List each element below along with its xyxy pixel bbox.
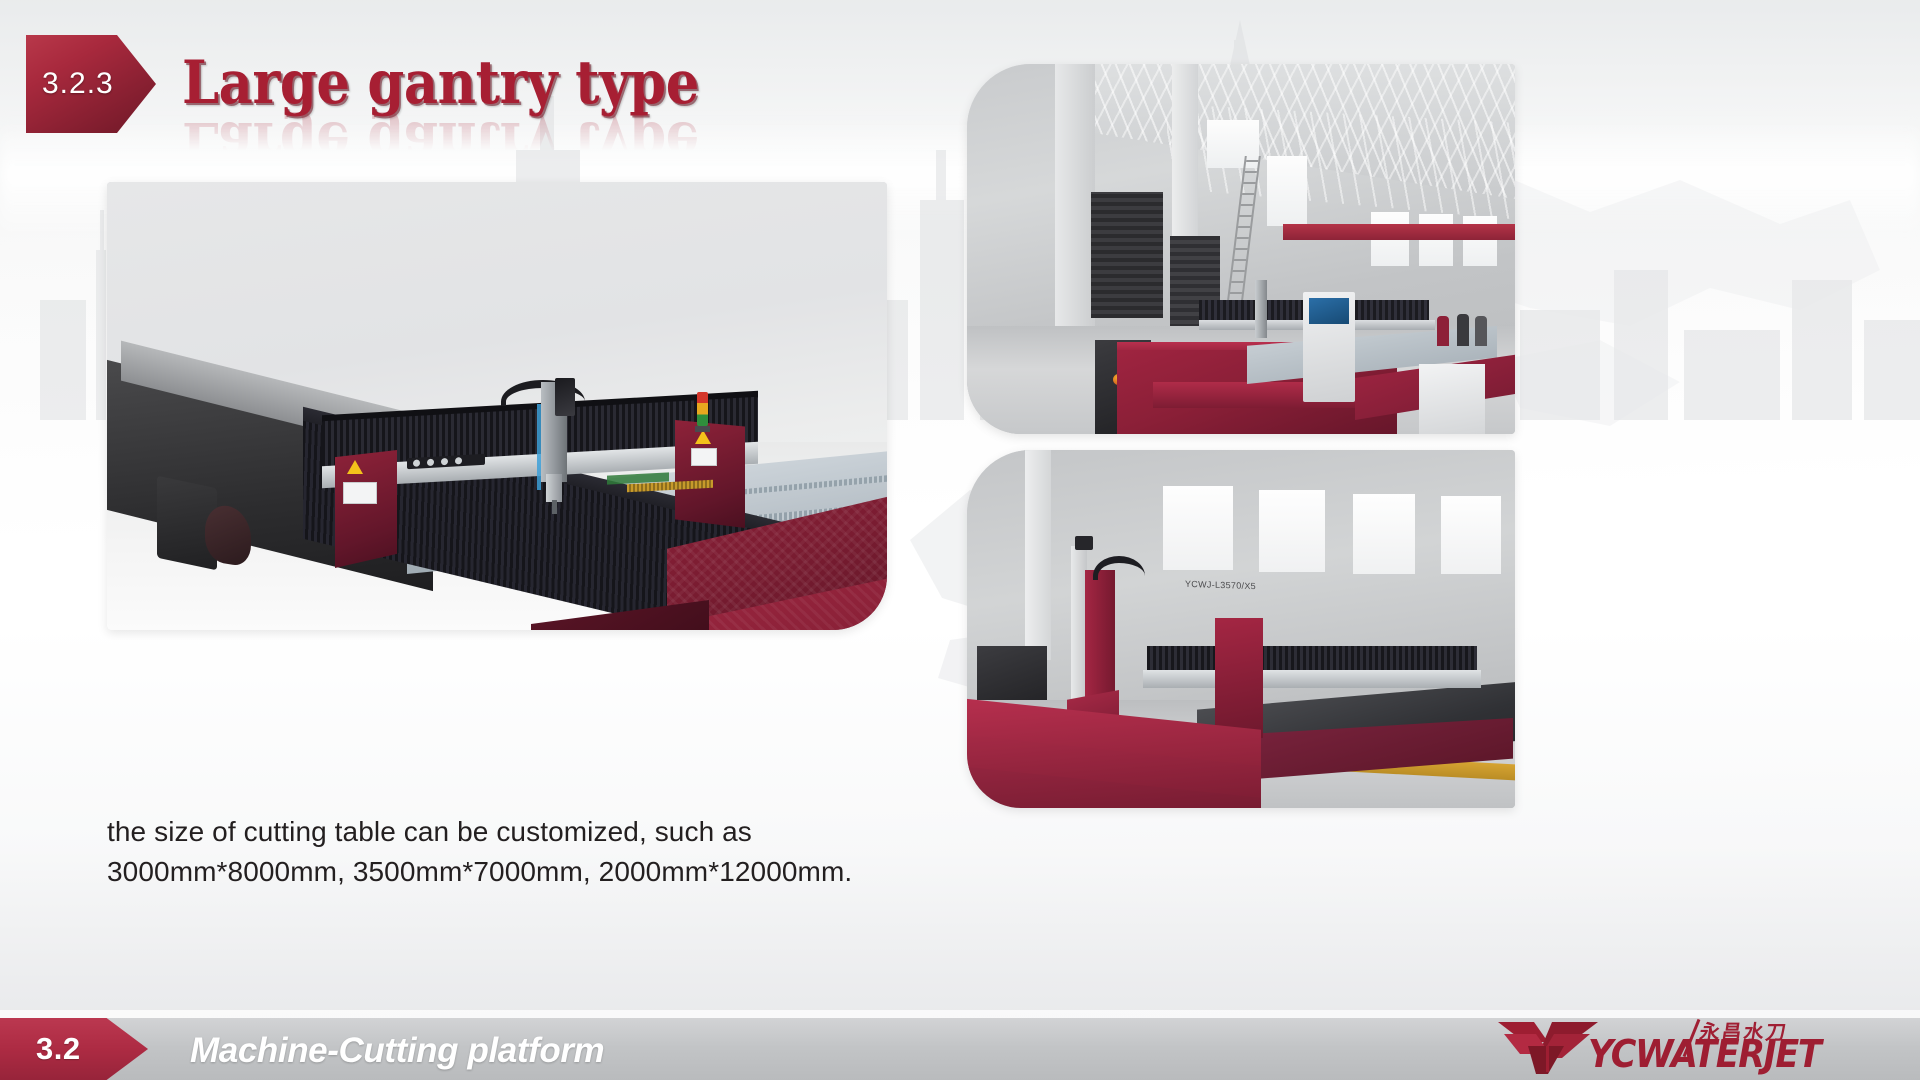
logo-english-text: YCWATERJET	[1588, 1032, 1820, 1076]
factory-photo-top-right	[967, 64, 1515, 434]
page-title: Large gantry type	[182, 52, 851, 114]
factory-photo-bottom-right: YCWJ-L3570/X5	[967, 450, 1515, 808]
signal-tower-light	[697, 392, 708, 426]
section-number-text: 3.2.3	[42, 67, 114, 101]
footer-section-title: Machine-Cutting platform	[190, 1031, 604, 1071]
caption-line-1: the size of cutting table can be customi…	[107, 812, 937, 852]
company-logo: 永昌水刀 YCWATERJET	[1494, 1014, 1898, 1076]
caption-text: the size of cutting table can be customi…	[107, 812, 937, 892]
console-screen	[1309, 298, 1349, 324]
page-title-reflection: Large gantry type	[182, 112, 851, 174]
footer-section-number: 3.2	[36, 1031, 81, 1067]
slide-footer: 3.2 Machine-Cutting platform 永昌水刀 YCWATE…	[0, 1012, 1920, 1080]
ycwaterjet-diamond-icon	[1494, 1016, 1602, 1074]
main-machine-photo	[107, 182, 887, 630]
caption-line-2: 3000mm*8000mm, 3500mm*7000mm, 2000mm*120…	[107, 852, 937, 892]
slide-title-group: Large gantry type Large gantry type	[182, 52, 942, 172]
